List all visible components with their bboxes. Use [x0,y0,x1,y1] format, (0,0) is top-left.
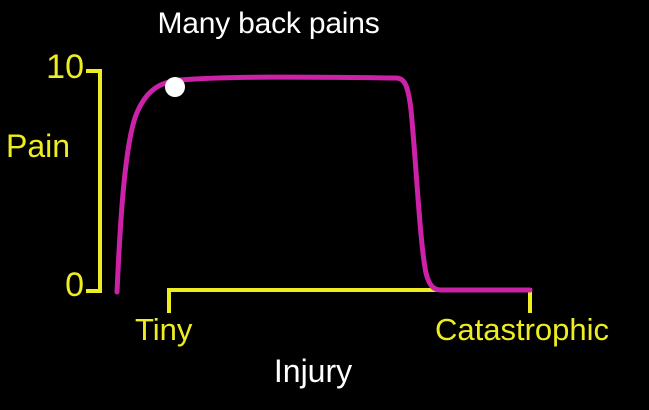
y-axis-tick-label-max: 10 [34,50,84,84]
y-axis-bracket [88,71,100,291]
x-axis-tick-label-left: Tiny [135,314,192,345]
y-axis-title: Pain [6,130,70,162]
x-axis-bracket [169,290,530,311]
x-axis-tick-label-right: Catastrophic [435,314,609,345]
plot-area [0,0,649,410]
x-axis-title: Injury [213,355,413,387]
chart-canvas: Many back pains 10 0 Pain Tiny Catastrop… [0,0,649,410]
chart-title: Many back pains [0,9,537,39]
pain-curve [117,77,530,292]
highlight-point-marker [165,77,185,97]
y-axis-tick-label-min: 0 [34,268,84,302]
